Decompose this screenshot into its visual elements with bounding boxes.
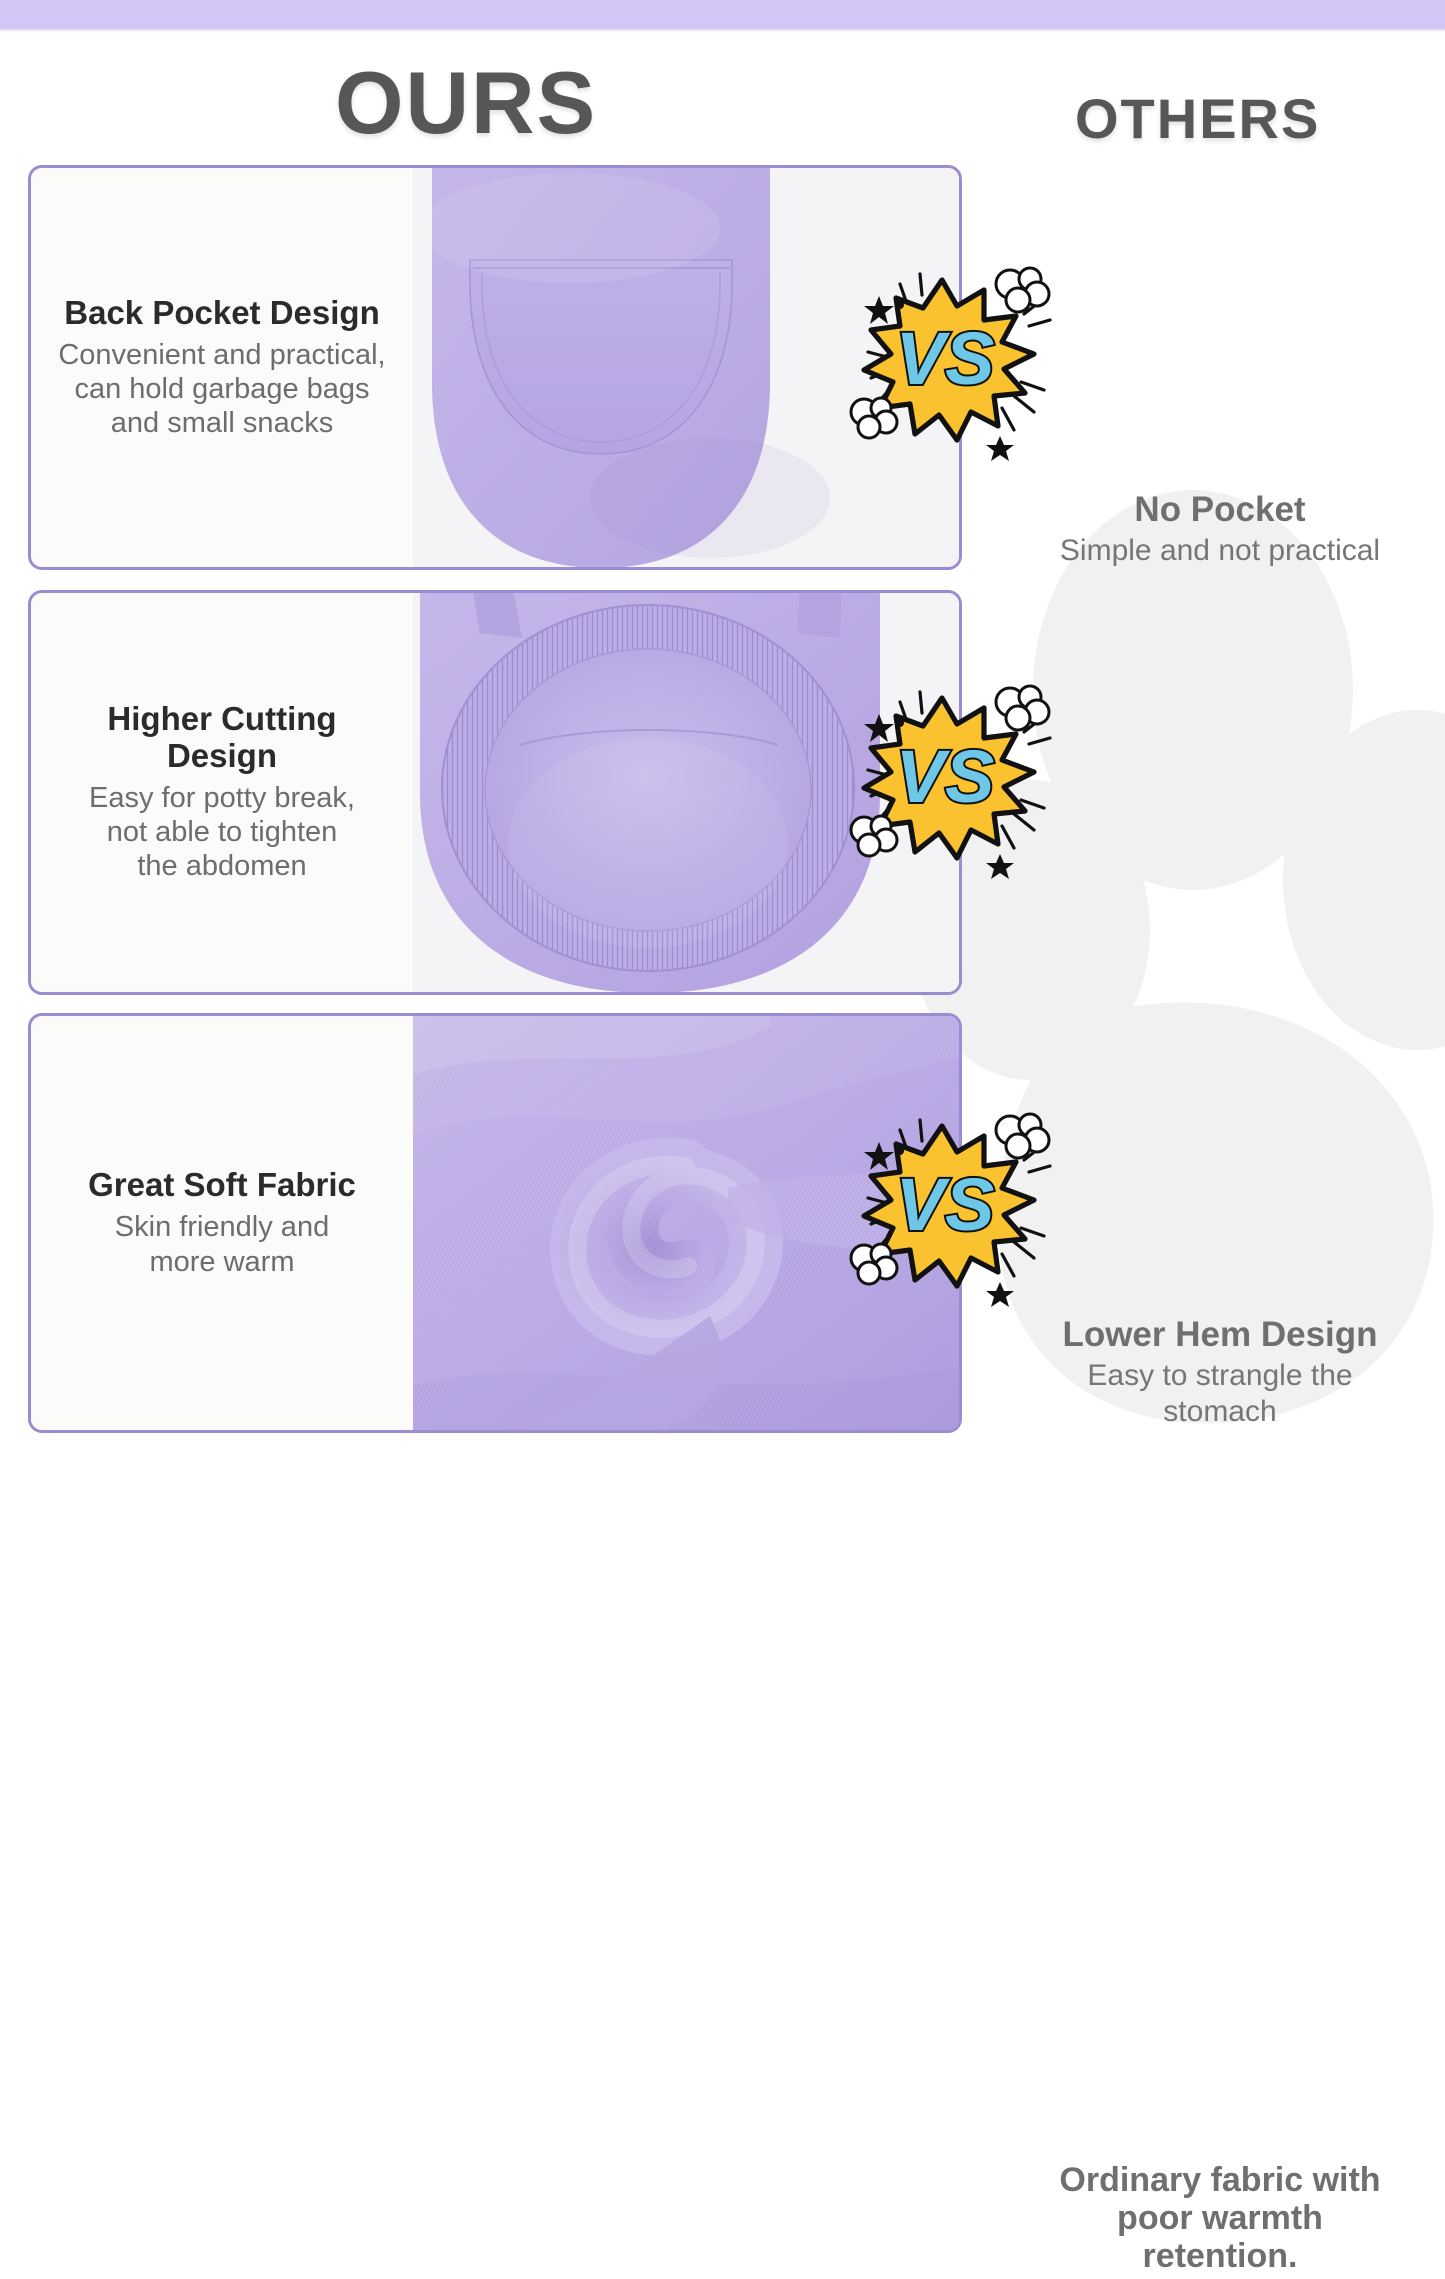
higher-cutting-photo [413, 593, 959, 992]
others-block-3: Ordinary fabric withpoor warmthretention… [1010, 2161, 1430, 2279]
ours-title-2: Higher CuttingDesign [107, 701, 336, 774]
header-ours: OURS [335, 52, 597, 154]
comparison-row-back-pocket: Back Pocket Design Convenient and practi… [0, 165, 1445, 570]
header-others: OTHERS [1075, 86, 1320, 151]
ours-text-2: Higher CuttingDesign Easy for potty brea… [31, 593, 413, 992]
others-block-1: No Pocket Simple and not practical [1010, 490, 1430, 569]
ours-card-2: Higher CuttingDesign Easy for potty brea… [28, 590, 962, 995]
top-accent-bar [0, 0, 1445, 31]
ours-subtitle-2: Easy for potty break,not able to tighten… [89, 781, 355, 884]
ours-subtitle-3: Skin friendly andmore warm [115, 1210, 329, 1278]
ours-card-1: Back Pocket Design Convenient and practi… [28, 165, 962, 570]
soft-fabric-photo [413, 1016, 959, 1430]
ours-card-3: Great Soft Fabric Skin friendly andmore … [28, 1013, 962, 1433]
ours-title-1: Back Pocket Design [64, 295, 379, 331]
comparison-row-higher-cutting: Higher CuttingDesign Easy for potty brea… [0, 590, 1445, 995]
others-title-3: Ordinary fabric withpoor warmthretention… [1010, 2161, 1430, 2275]
ours-title-3: Great Soft Fabric [88, 1167, 356, 1203]
ours-text-3: Great Soft Fabric Skin friendly andmore … [31, 1016, 413, 1430]
others-title-1: No Pocket [1010, 490, 1430, 529]
others-subtitle-1: Simple and not practical [1010, 533, 1430, 568]
back-pocket-photo [413, 168, 959, 567]
comparison-row-soft-fabric: Great Soft Fabric Skin friendly andmore … [0, 1013, 1445, 1433]
column-headers: OURS OTHERS [0, 48, 1445, 158]
ours-subtitle-1: Convenient and practical,can hold garbag… [58, 338, 385, 441]
ours-text-1: Back Pocket Design Convenient and practi… [31, 168, 413, 567]
